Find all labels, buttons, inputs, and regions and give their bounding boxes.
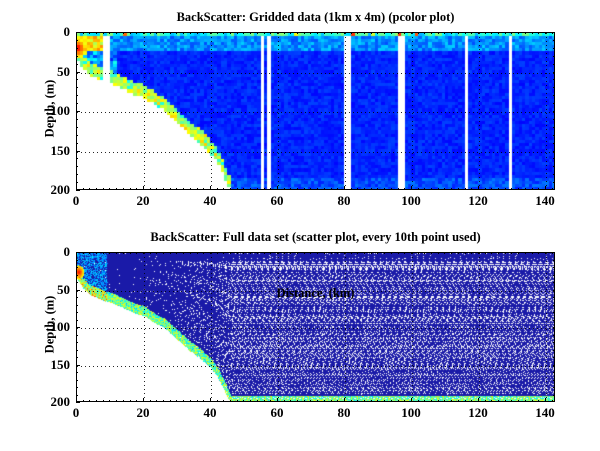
x-major-tick bbox=[545, 186, 546, 190]
x-major-tick bbox=[344, 398, 345, 402]
x-minor-tick bbox=[404, 188, 405, 190]
gridline-vertical bbox=[144, 253, 145, 401]
x-minor-tick bbox=[451, 252, 452, 254]
x-minor-tick bbox=[498, 32, 499, 34]
gridline-vertical bbox=[479, 33, 480, 189]
y-minor-tick bbox=[76, 260, 78, 261]
x-minor-tick bbox=[150, 188, 151, 190]
x-minor-tick bbox=[458, 400, 459, 402]
y-minor-tick bbox=[76, 174, 78, 175]
x-minor-tick bbox=[270, 188, 271, 190]
x-minor-tick bbox=[304, 32, 305, 34]
x-minor-tick bbox=[552, 252, 553, 254]
y-minor-tick bbox=[553, 275, 555, 276]
y-axis-label-scatter: Depth, (m) bbox=[43, 255, 58, 395]
x-major-tick bbox=[277, 398, 278, 402]
x-minor-tick bbox=[223, 252, 224, 254]
gridline-vertical bbox=[144, 33, 145, 189]
x-minor-tick bbox=[290, 252, 291, 254]
x-minor-tick bbox=[518, 32, 519, 34]
x-axis-label-distance: Distance, (km) bbox=[76, 286, 555, 301]
x-tick-label: 100 bbox=[401, 193, 421, 209]
x-minor-tick bbox=[270, 32, 271, 34]
x-minor-tick bbox=[438, 252, 439, 254]
x-minor-tick bbox=[89, 32, 90, 34]
x-minor-tick bbox=[458, 188, 459, 190]
x-minor-tick bbox=[116, 400, 117, 402]
y-minor-tick bbox=[76, 143, 78, 144]
y-major-tick bbox=[76, 327, 80, 328]
x-tick-label: 140 bbox=[535, 405, 555, 421]
x-minor-tick bbox=[391, 252, 392, 254]
x-minor-tick bbox=[277, 32, 278, 34]
y-minor-tick bbox=[76, 135, 78, 136]
y-minor-tick bbox=[553, 48, 555, 49]
y-minor-tick bbox=[76, 103, 78, 104]
x-minor-tick bbox=[505, 32, 506, 34]
x-minor-tick bbox=[217, 252, 218, 254]
x-minor-tick bbox=[317, 188, 318, 190]
x-minor-tick bbox=[96, 400, 97, 402]
y-minor-tick bbox=[76, 335, 78, 336]
x-minor-tick bbox=[163, 188, 164, 190]
x-minor-tick bbox=[176, 188, 177, 190]
y-minor-tick bbox=[553, 127, 555, 128]
y-minor-tick bbox=[76, 127, 78, 128]
x-minor-tick bbox=[491, 188, 492, 190]
x-minor-tick bbox=[511, 252, 512, 254]
x-minor-tick bbox=[491, 32, 492, 34]
x-minor-tick bbox=[150, 252, 151, 254]
x-minor-tick bbox=[163, 32, 164, 34]
x-minor-tick bbox=[250, 400, 251, 402]
y-minor-tick bbox=[553, 87, 555, 88]
x-minor-tick bbox=[451, 32, 452, 34]
x-minor-tick bbox=[511, 400, 512, 402]
x-minor-tick bbox=[438, 188, 439, 190]
x-minor-tick bbox=[324, 188, 325, 190]
x-major-tick bbox=[143, 186, 144, 190]
x-minor-tick bbox=[290, 400, 291, 402]
x-minor-tick bbox=[83, 188, 84, 190]
x-minor-tick bbox=[485, 188, 486, 190]
x-minor-tick bbox=[351, 400, 352, 402]
x-minor-tick bbox=[243, 252, 244, 254]
y-minor-tick bbox=[553, 40, 555, 41]
x-minor-tick bbox=[130, 32, 131, 34]
x-major-tick bbox=[277, 186, 278, 190]
x-minor-tick bbox=[498, 252, 499, 254]
x-minor-tick bbox=[310, 252, 311, 254]
y-minor-tick bbox=[553, 64, 555, 65]
x-minor-tick bbox=[371, 32, 372, 34]
x-tick-label: 140 bbox=[535, 193, 555, 209]
x-minor-tick bbox=[411, 32, 412, 34]
y-minor-tick bbox=[553, 365, 555, 366]
y-minor-tick bbox=[553, 151, 555, 152]
x-major-tick bbox=[143, 398, 144, 402]
x-tick-label: 20 bbox=[137, 405, 150, 421]
x-minor-tick bbox=[391, 32, 392, 34]
y-minor-tick bbox=[76, 87, 78, 88]
x-minor-tick bbox=[183, 400, 184, 402]
x-minor-tick bbox=[465, 188, 466, 190]
x-major-tick bbox=[210, 186, 211, 190]
x-minor-tick bbox=[324, 400, 325, 402]
gridline-vertical bbox=[211, 253, 212, 401]
y-minor-tick bbox=[76, 166, 78, 167]
x-minor-tick bbox=[538, 32, 539, 34]
x-minor-tick bbox=[357, 400, 358, 402]
y-minor-tick bbox=[76, 64, 78, 65]
x-minor-tick bbox=[130, 252, 131, 254]
x-minor-tick bbox=[257, 400, 258, 402]
y-major-tick bbox=[76, 252, 80, 253]
y-minor-tick bbox=[76, 395, 78, 396]
x-minor-tick bbox=[451, 188, 452, 190]
y-minor-tick bbox=[553, 350, 555, 351]
x-minor-tick bbox=[170, 32, 171, 34]
y-minor-tick bbox=[76, 342, 78, 343]
x-minor-tick bbox=[538, 252, 539, 254]
x-minor-tick bbox=[344, 32, 345, 34]
x-minor-tick bbox=[116, 252, 117, 254]
x-minor-tick bbox=[438, 400, 439, 402]
x-minor-tick bbox=[525, 188, 526, 190]
panel-gridded-pcolor: BackScatter: Gridded data (1km x 4m) (pc… bbox=[76, 32, 555, 190]
x-minor-tick bbox=[545, 252, 546, 254]
x-minor-tick bbox=[183, 32, 184, 34]
y-minor-tick bbox=[553, 342, 555, 343]
y-minor-tick bbox=[553, 305, 555, 306]
x-minor-tick bbox=[83, 400, 84, 402]
x-major-tick bbox=[545, 398, 546, 402]
x-minor-tick bbox=[424, 188, 425, 190]
x-minor-tick bbox=[123, 252, 124, 254]
x-minor-tick bbox=[264, 400, 265, 402]
gridline-vertical bbox=[412, 253, 413, 401]
x-minor-tick bbox=[284, 188, 285, 190]
x-minor-tick bbox=[136, 188, 137, 190]
x-minor-tick bbox=[404, 32, 405, 34]
y-tick-label: 200 bbox=[34, 394, 70, 410]
x-minor-tick bbox=[552, 188, 553, 190]
gridline-vertical bbox=[479, 253, 480, 401]
x-minor-tick bbox=[465, 32, 466, 34]
x-minor-tick bbox=[156, 252, 157, 254]
gridline-vertical bbox=[345, 33, 346, 189]
x-minor-tick bbox=[418, 252, 419, 254]
x-minor-tick bbox=[290, 188, 291, 190]
x-minor-tick bbox=[130, 400, 131, 402]
x-minor-tick bbox=[317, 400, 318, 402]
x-minor-tick bbox=[143, 32, 144, 34]
x-minor-tick bbox=[130, 188, 131, 190]
x-minor-tick bbox=[156, 400, 157, 402]
y-major-tick bbox=[76, 72, 80, 73]
x-minor-tick bbox=[331, 400, 332, 402]
x-major-tick bbox=[411, 186, 412, 190]
y-minor-tick bbox=[76, 372, 78, 373]
x-tick-label: 0 bbox=[73, 405, 80, 421]
x-minor-tick bbox=[377, 252, 378, 254]
x-minor-tick bbox=[357, 32, 358, 34]
y-minor-tick bbox=[553, 135, 555, 136]
y-minor-tick bbox=[553, 174, 555, 175]
x-minor-tick bbox=[297, 32, 298, 34]
x-tick-label: 100 bbox=[401, 405, 421, 421]
x-minor-tick bbox=[136, 252, 137, 254]
x-minor-tick bbox=[337, 32, 338, 34]
x-minor-tick bbox=[525, 400, 526, 402]
x-tick-label: 80 bbox=[338, 405, 351, 421]
y-minor-tick bbox=[553, 312, 555, 313]
x-minor-tick bbox=[190, 32, 191, 34]
x-minor-tick bbox=[552, 400, 553, 402]
x-minor-tick bbox=[109, 188, 110, 190]
y-minor-tick bbox=[553, 327, 555, 328]
x-minor-tick bbox=[237, 252, 238, 254]
x-minor-tick bbox=[243, 32, 244, 34]
x-minor-tick bbox=[264, 188, 265, 190]
x-minor-tick bbox=[197, 188, 198, 190]
x-minor-tick bbox=[478, 252, 479, 254]
gridline-horizontal bbox=[77, 152, 554, 153]
x-minor-tick bbox=[103, 188, 104, 190]
x-minor-tick bbox=[96, 32, 97, 34]
x-minor-tick bbox=[176, 400, 177, 402]
y-minor-tick bbox=[76, 267, 78, 268]
x-minor-tick bbox=[163, 400, 164, 402]
x-minor-tick bbox=[304, 188, 305, 190]
y-minor-tick bbox=[553, 166, 555, 167]
x-minor-tick bbox=[505, 252, 506, 254]
x-minor-tick bbox=[458, 32, 459, 34]
x-minor-tick bbox=[424, 32, 425, 34]
x-minor-tick bbox=[384, 188, 385, 190]
x-minor-tick bbox=[223, 400, 224, 402]
y-tick-label: 200 bbox=[34, 182, 70, 198]
gridline-horizontal bbox=[77, 366, 554, 367]
x-minor-tick bbox=[109, 252, 110, 254]
x-minor-tick bbox=[277, 252, 278, 254]
y-minor-tick bbox=[553, 182, 555, 183]
y-minor-tick bbox=[553, 267, 555, 268]
x-minor-tick bbox=[197, 252, 198, 254]
axes-frame-gridded bbox=[76, 32, 555, 190]
x-minor-tick bbox=[431, 32, 432, 34]
x-minor-tick bbox=[545, 32, 546, 34]
figure-backscatter: BackScatter: Gridded data (1km x 4m) (pc… bbox=[0, 0, 600, 451]
x-minor-tick bbox=[103, 32, 104, 34]
x-tick-label: 60 bbox=[271, 193, 284, 209]
gridline-vertical bbox=[211, 33, 212, 189]
x-minor-tick bbox=[176, 32, 177, 34]
y-minor-tick bbox=[76, 357, 78, 358]
x-minor-tick bbox=[310, 32, 311, 34]
x-minor-tick bbox=[491, 400, 492, 402]
x-minor-tick bbox=[176, 252, 177, 254]
x-minor-tick bbox=[203, 32, 204, 34]
x-minor-tick bbox=[123, 188, 124, 190]
y-minor-tick bbox=[76, 95, 78, 96]
x-minor-tick bbox=[217, 400, 218, 402]
y-minor-tick bbox=[76, 282, 78, 283]
x-minor-tick bbox=[270, 252, 271, 254]
x-minor-tick bbox=[371, 252, 372, 254]
x-minor-tick bbox=[257, 188, 258, 190]
x-minor-tick bbox=[525, 32, 526, 34]
x-minor-tick bbox=[317, 32, 318, 34]
x-minor-tick bbox=[203, 188, 204, 190]
x-minor-tick bbox=[284, 32, 285, 34]
x-minor-tick bbox=[337, 188, 338, 190]
x-major-tick bbox=[411, 398, 412, 402]
x-minor-tick bbox=[538, 188, 539, 190]
x-minor-tick bbox=[364, 32, 365, 34]
y-minor-tick bbox=[76, 305, 78, 306]
y-major-tick bbox=[76, 151, 80, 152]
x-minor-tick bbox=[210, 252, 211, 254]
y-axis-label-gridded: Depth, (m) bbox=[43, 39, 58, 179]
x-minor-tick bbox=[103, 400, 104, 402]
y-minor-tick bbox=[553, 95, 555, 96]
x-minor-tick bbox=[377, 32, 378, 34]
y-minor-tick bbox=[553, 320, 555, 321]
x-minor-tick bbox=[377, 400, 378, 402]
x-tick-label: 20 bbox=[137, 193, 150, 209]
x-minor-tick bbox=[411, 252, 412, 254]
x-minor-tick bbox=[170, 252, 171, 254]
x-minor-tick bbox=[116, 188, 117, 190]
x-minor-tick bbox=[304, 252, 305, 254]
x-minor-tick bbox=[357, 188, 358, 190]
x-minor-tick bbox=[89, 188, 90, 190]
x-minor-tick bbox=[324, 32, 325, 34]
x-minor-tick bbox=[344, 252, 345, 254]
gridline-vertical bbox=[278, 33, 279, 189]
panel-title-scatter: BackScatter: Full data set (scatter plot… bbox=[76, 230, 555, 245]
x-minor-tick bbox=[485, 400, 486, 402]
x-tick-label: 0 bbox=[73, 193, 80, 209]
x-minor-tick bbox=[317, 252, 318, 254]
x-tick-label: 40 bbox=[204, 405, 217, 421]
x-minor-tick bbox=[424, 400, 425, 402]
x-minor-tick bbox=[518, 188, 519, 190]
x-minor-tick bbox=[183, 252, 184, 254]
y-minor-tick bbox=[553, 119, 555, 120]
x-minor-tick bbox=[505, 188, 506, 190]
y-major-tick bbox=[76, 111, 80, 112]
x-minor-tick bbox=[270, 400, 271, 402]
x-minor-tick bbox=[210, 32, 211, 34]
gridline-horizontal bbox=[77, 112, 554, 113]
x-minor-tick bbox=[337, 252, 338, 254]
x-minor-tick bbox=[190, 252, 191, 254]
x-minor-tick bbox=[156, 188, 157, 190]
x-major-tick bbox=[478, 186, 479, 190]
x-minor-tick bbox=[444, 400, 445, 402]
x-minor-tick bbox=[324, 252, 325, 254]
x-tick-label: 80 bbox=[338, 193, 351, 209]
x-minor-tick bbox=[465, 252, 466, 254]
x-minor-tick bbox=[377, 188, 378, 190]
x-minor-tick bbox=[364, 252, 365, 254]
y-minor-tick bbox=[553, 158, 555, 159]
panel-title-gridded: BackScatter: Gridded data (1km x 4m) (pc… bbox=[76, 10, 555, 25]
x-minor-tick bbox=[109, 32, 110, 34]
x-tick-label: 120 bbox=[468, 405, 488, 421]
x-minor-tick bbox=[123, 400, 124, 402]
x-minor-tick bbox=[478, 32, 479, 34]
x-minor-tick bbox=[250, 252, 251, 254]
x-minor-tick bbox=[398, 252, 399, 254]
x-minor-tick bbox=[136, 400, 137, 402]
x-minor-tick bbox=[505, 400, 506, 402]
x-tick-label: 40 bbox=[204, 193, 217, 209]
x-minor-tick bbox=[444, 32, 445, 34]
x-minor-tick bbox=[310, 188, 311, 190]
x-minor-tick bbox=[237, 188, 238, 190]
x-minor-tick bbox=[351, 32, 352, 34]
x-minor-tick bbox=[458, 252, 459, 254]
x-minor-tick bbox=[150, 400, 151, 402]
x-minor-tick bbox=[391, 400, 392, 402]
x-minor-tick bbox=[284, 400, 285, 402]
x-minor-tick bbox=[197, 400, 198, 402]
x-minor-tick bbox=[532, 252, 533, 254]
x-minor-tick bbox=[444, 252, 445, 254]
x-minor-tick bbox=[371, 400, 372, 402]
y-minor-tick bbox=[553, 143, 555, 144]
x-minor-tick bbox=[384, 252, 385, 254]
y-minor-tick bbox=[553, 335, 555, 336]
gridline-vertical bbox=[345, 253, 346, 401]
x-minor-tick bbox=[398, 400, 399, 402]
x-minor-tick bbox=[264, 32, 265, 34]
x-minor-tick bbox=[404, 400, 405, 402]
x-minor-tick bbox=[431, 188, 432, 190]
x-minor-tick bbox=[136, 32, 137, 34]
y-minor-tick bbox=[553, 111, 555, 112]
x-minor-tick bbox=[404, 252, 405, 254]
x-minor-tick bbox=[364, 400, 365, 402]
x-minor-tick bbox=[83, 252, 84, 254]
x-minor-tick bbox=[471, 188, 472, 190]
y-minor-tick bbox=[553, 79, 555, 80]
x-minor-tick bbox=[116, 32, 117, 34]
gridline-vertical bbox=[278, 253, 279, 401]
x-minor-tick bbox=[143, 252, 144, 254]
y-minor-tick bbox=[553, 282, 555, 283]
y-minor-tick bbox=[76, 48, 78, 49]
x-minor-tick bbox=[264, 252, 265, 254]
y-minor-tick bbox=[76, 79, 78, 80]
x-minor-tick bbox=[331, 252, 332, 254]
x-minor-tick bbox=[525, 252, 526, 254]
x-minor-tick bbox=[89, 400, 90, 402]
x-minor-tick bbox=[310, 400, 311, 402]
x-minor-tick bbox=[223, 188, 224, 190]
x-minor-tick bbox=[83, 32, 84, 34]
gridline-vertical bbox=[546, 33, 547, 189]
y-major-tick bbox=[76, 365, 80, 366]
x-minor-tick bbox=[237, 400, 238, 402]
x-minor-tick bbox=[391, 188, 392, 190]
x-minor-tick bbox=[217, 32, 218, 34]
x-minor-tick bbox=[371, 188, 372, 190]
x-minor-tick bbox=[424, 252, 425, 254]
